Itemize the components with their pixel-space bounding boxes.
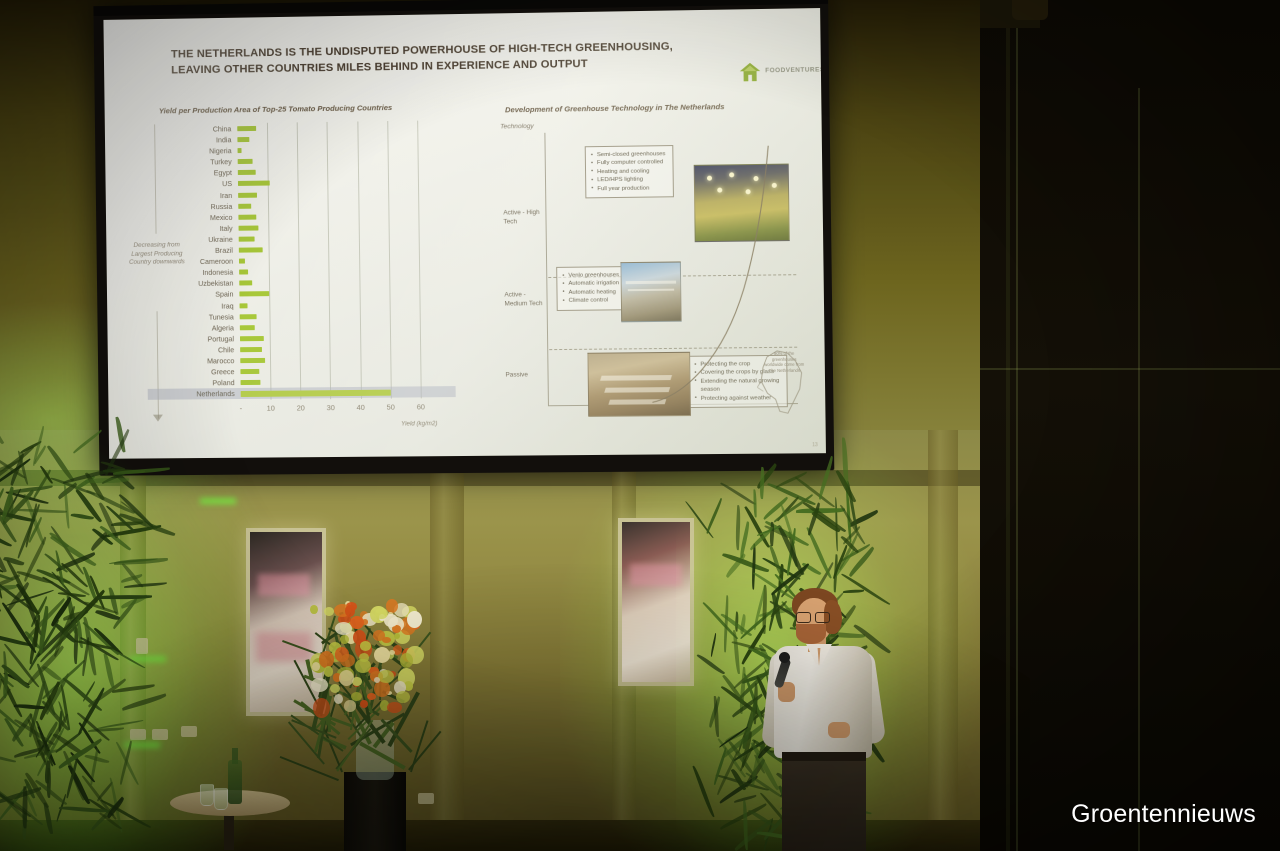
chart-axis-label: Yield (kg/m2)	[401, 420, 437, 428]
chart-row-label: Marocco	[207, 355, 234, 366]
chart-bar	[240, 358, 265, 363]
chart-bar	[238, 203, 251, 208]
chart-bar	[238, 159, 253, 164]
panel-seam	[980, 368, 1280, 370]
chart-row-label: Iraq	[221, 300, 233, 311]
chart-bar	[239, 270, 248, 275]
chart-bar	[240, 325, 255, 330]
chart-row-label: US	[222, 179, 232, 190]
chart-row-label: Algeria	[212, 322, 234, 333]
chart-bar	[239, 247, 263, 252]
chart-bar	[237, 137, 249, 142]
presentation-slide: THE NETHERLANDS IS THE UNDISPUTED POWERH…	[103, 8, 826, 459]
chart-bar	[238, 192, 257, 197]
yield-bar-chart: Decreasing from Largest Producing Countr…	[144, 120, 456, 423]
chart-bar	[239, 225, 259, 230]
foodventures-logo: FOODVENTURES	[739, 58, 826, 86]
chart-row-label: Cameroon	[200, 256, 233, 267]
chart-bar	[240, 303, 248, 308]
tier-label-medium-tech: Active - Medium Tech	[504, 291, 546, 309]
chart-row-label: Ukraine	[208, 234, 233, 245]
slide-title: THE NETHERLANDS IS THE UNDISPUTED POWERH…	[171, 38, 701, 79]
tier-label-passive: Passive	[505, 371, 547, 380]
axis-tick-label: -	[240, 404, 243, 413]
floor-shadow	[0, 560, 1030, 851]
watermark: Groentennieuws	[1071, 800, 1256, 829]
axis-tick-label: 20	[297, 403, 305, 412]
axis-tick-label: 30	[327, 403, 335, 412]
chart-row-label: Nigeria	[209, 145, 232, 156]
chart-row-label: Italy	[219, 223, 232, 234]
chart-row-label: Spain	[215, 289, 233, 300]
diagram-heading: Development of Greenhouse Technology in …	[505, 102, 725, 114]
chart-row-label: Indonesia	[202, 267, 233, 278]
chart-bar	[237, 126, 256, 131]
chart-bar	[240, 336, 264, 341]
chart-row-label: Egypt	[214, 167, 232, 178]
ceiling-spotlight	[1012, 0, 1048, 20]
chart-row-label: Uzbekistan	[198, 278, 233, 289]
chart-row-label: Chile	[218, 344, 234, 355]
chart-bar	[241, 390, 391, 397]
greenhouse-technology-diagram: Technology 1850 - now Active - High Tech…	[500, 117, 806, 422]
chart-row-label: Netherlands	[196, 388, 235, 399]
panel-seam	[1138, 88, 1140, 851]
axis-tick-label: 60	[417, 402, 425, 411]
chart-row-label: Tunesia	[209, 311, 234, 322]
netherlands-map: 90% of the greenhouses worldwide come fr…	[757, 343, 811, 422]
tier-label-high-tech: Active - High Tech	[503, 209, 545, 227]
map-annotation: 90% of the greenhouses worldwide come fr…	[763, 351, 806, 374]
chart-bar	[241, 380, 261, 385]
chart-bar	[239, 236, 255, 241]
axis-tick-label: 10	[267, 404, 275, 413]
slide-number: 13	[812, 442, 818, 448]
chart-row-label: Portugal	[207, 333, 234, 344]
axis-tick-label: 50	[387, 403, 395, 412]
chart-bar	[240, 347, 262, 352]
chart-bars: ChinaIndiaNigeriaTurkeyEgyptUSIranRussia…	[144, 120, 455, 400]
axis-tick-label: 40	[357, 403, 365, 412]
chart-bar	[239, 259, 245, 264]
chart-bar	[240, 314, 256, 319]
chart-bar	[238, 214, 256, 219]
chart-row-label: Russia	[210, 201, 232, 212]
chart-bar	[238, 148, 242, 153]
chart-row-label: China	[213, 123, 232, 134]
chart-bar	[238, 170, 256, 175]
photo-scene: THE NETHERLANDS IS THE UNDISPUTED POWERH…	[0, 0, 1280, 851]
chart-bar	[239, 292, 269, 297]
chart-x-axis: -102030405060	[241, 402, 440, 420]
chart-bar	[238, 181, 269, 186]
projection-screen: THE NETHERLANDS IS THE UNDISPUTED POWERH…	[93, 0, 834, 476]
side-note-arrow-icon	[153, 415, 163, 422]
chart-row-label: India	[216, 134, 232, 145]
diagram-y-axis	[544, 133, 549, 405]
chart-row-label: Mexico	[210, 212, 233, 223]
leaf	[753, 489, 756, 517]
logo-wordmark: FOODVENTURES	[765, 66, 825, 74]
chart-axis-label-text: Yield (kg/m2)	[401, 420, 437, 427]
chart-row-label: Iran	[220, 190, 232, 201]
chart-bar	[239, 281, 252, 286]
chart-heading: Yield per Production Area of Top-25 Toma…	[159, 103, 392, 115]
green-light-strip	[200, 498, 236, 504]
house-roof-icon	[739, 61, 762, 82]
chart-row-label: Greece	[211, 366, 234, 377]
chart-row-label: Poland	[212, 377, 234, 388]
chart-row-label: Turkey	[210, 156, 232, 167]
chart-bar	[240, 369, 259, 374]
diagram-y-axis-label: Technology	[500, 123, 534, 130]
chart-row-label: Brazil	[215, 245, 233, 256]
